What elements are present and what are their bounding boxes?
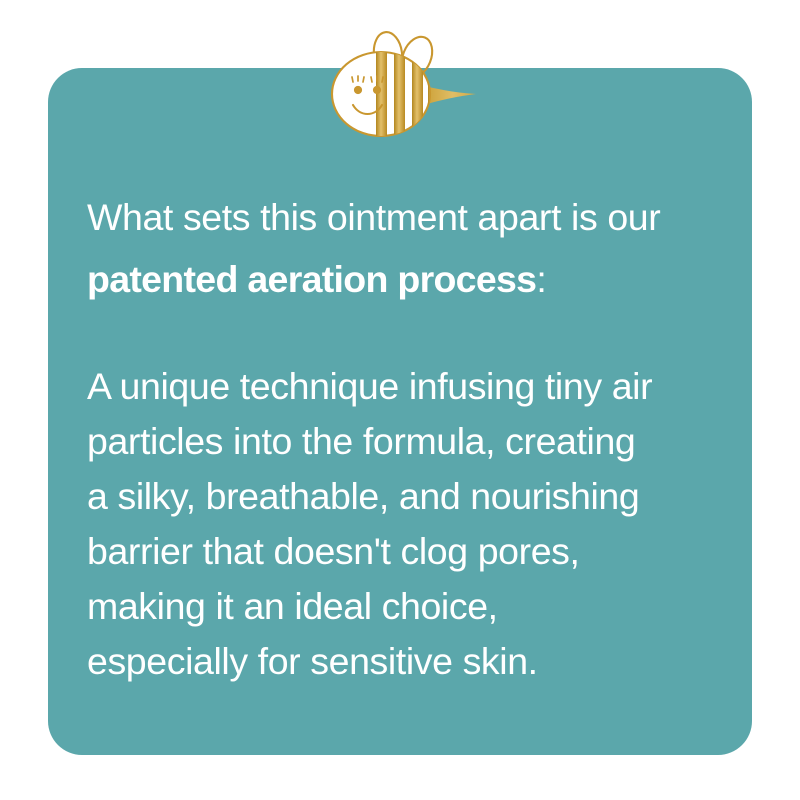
body-line: a silky, breathable, and nourishing [87,469,727,524]
headline-line-2: patented aeration process: [87,248,727,310]
body-line: making it an ideal choice, [87,579,727,634]
headline-colon: : [536,258,546,300]
headline-line-1: What sets this ointment apart is our [87,186,727,248]
body-paragraph: A unique technique infusing tiny air par… [87,310,727,689]
bee-mascot-icon [320,24,490,144]
body-line: A unique technique infusing tiny air [87,359,727,414]
body-line: barrier that doesn't clog pores, [87,524,727,579]
body-line: particles into the formula, creating [87,414,727,469]
headline-emphasis: patented aeration process [87,258,536,300]
headline-lead: What sets this ointment apart is our [87,196,660,238]
slide-canvas: What sets this ointment apart is our pat… [0,0,800,800]
card-copy-block: What sets this ointment apart is our pat… [87,186,727,689]
body-line: especially for sensitive skin. [87,634,727,689]
